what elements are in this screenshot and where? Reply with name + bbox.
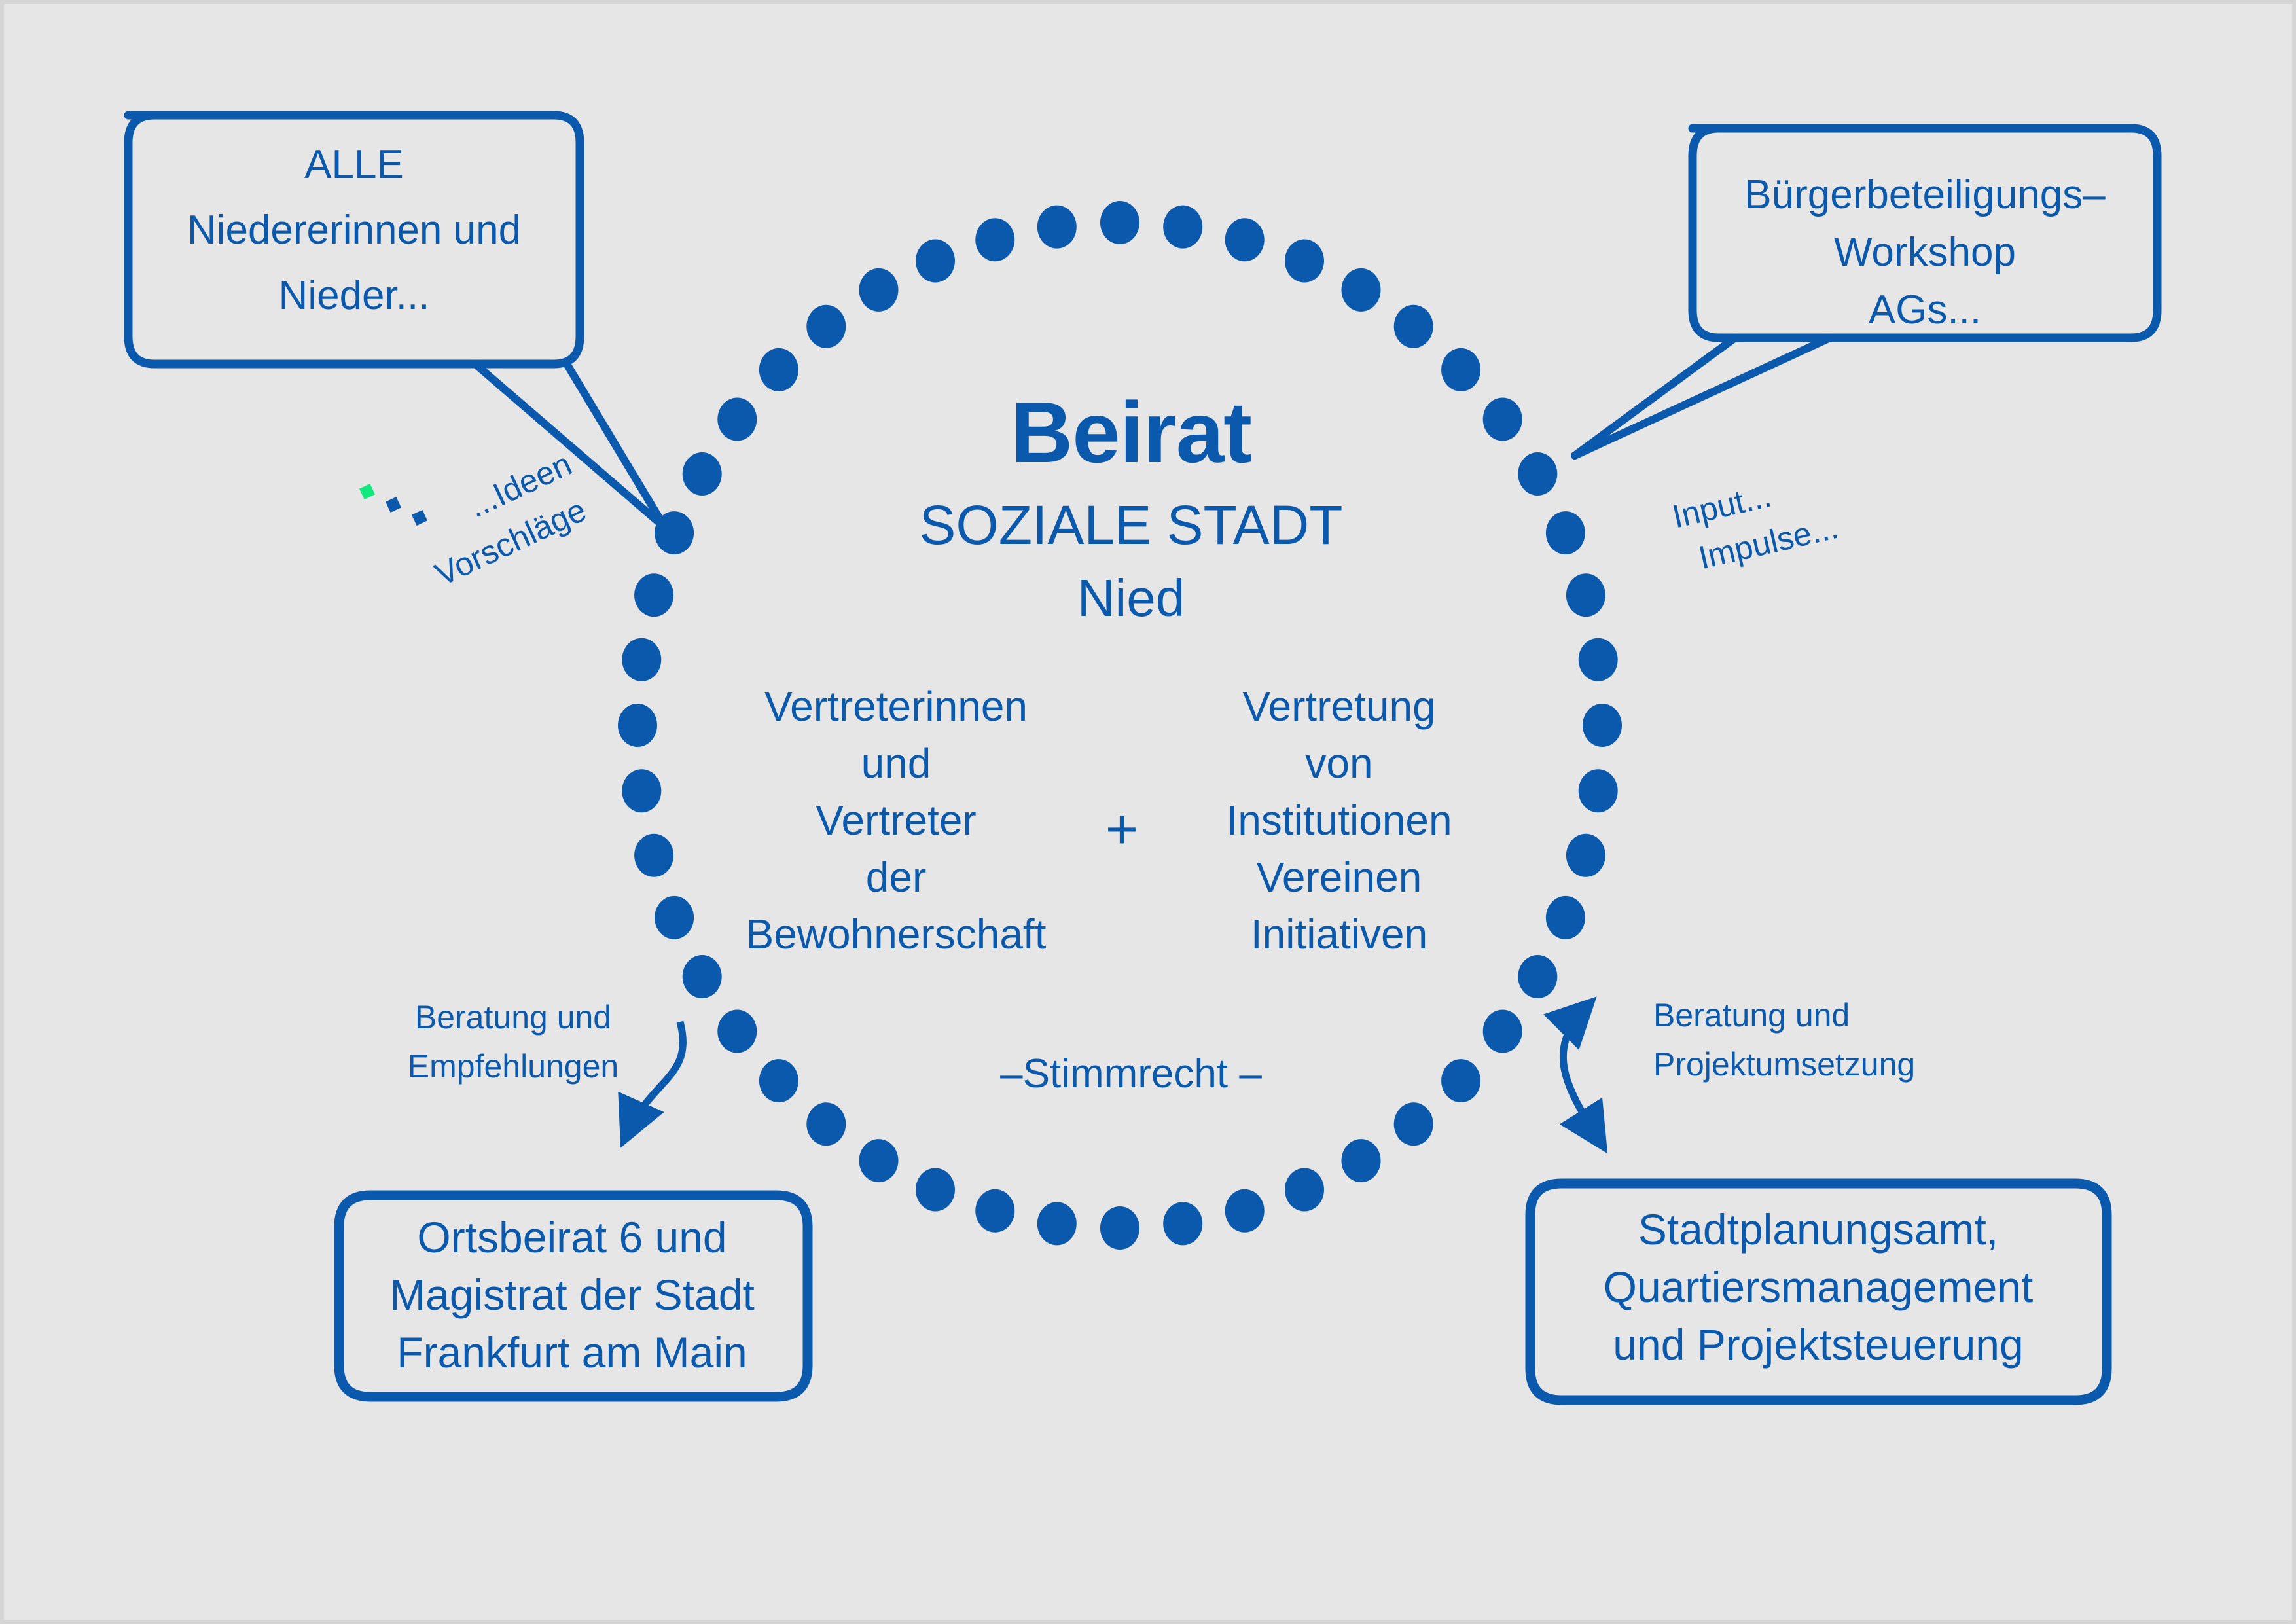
ring-dot xyxy=(916,240,955,283)
center-title: Beirat xyxy=(1011,384,1251,480)
ring-dot xyxy=(1546,896,1585,939)
inner-left-line-2: und xyxy=(861,740,931,787)
ring-dot xyxy=(806,1102,846,1146)
ring-dot xyxy=(622,769,661,812)
ring-dot xyxy=(975,1189,1014,1233)
ring-dot xyxy=(1285,240,1324,283)
inner-right-line-4: Vereinen xyxy=(1257,854,1422,901)
ring-dot xyxy=(1483,398,1522,441)
box-bl-line-1: Ortsbeirat 6 und xyxy=(417,1213,726,1261)
ring-dot xyxy=(759,1059,798,1102)
inner-right-line-5: Initiativen xyxy=(1251,911,1427,958)
box-bl-line-3: Frankfurt am Main xyxy=(397,1328,747,1377)
ring-dot xyxy=(1441,348,1480,391)
ring-dot xyxy=(1163,1202,1202,1245)
ring-dot xyxy=(683,452,722,496)
ring-dot xyxy=(759,348,798,391)
ring-dot xyxy=(1518,452,1557,496)
ring-dot xyxy=(655,896,694,939)
inner-left-line-3: Vertreter xyxy=(816,797,976,844)
bubble-tl-line-2: Niedererinnen und xyxy=(187,208,521,253)
annotation-right-lower-line-1: Beratung und xyxy=(1653,997,1850,1034)
box-br-line-1: Stadtplanungsamt, xyxy=(1638,1205,1998,1254)
arrow-beirat-stadtplanung-bidirectional xyxy=(1563,1005,1601,1143)
ring-dot xyxy=(1225,1189,1265,1233)
inner-right-line-2: von xyxy=(1305,740,1372,787)
arrow-beirat-to-ortsbeirat xyxy=(626,1022,683,1136)
ring-dot xyxy=(1483,1010,1522,1053)
ring-dot xyxy=(1583,704,1622,747)
ring-dot xyxy=(1163,206,1202,249)
bubble-tl-line-3: Nieder... xyxy=(279,273,430,318)
ring-dot xyxy=(634,834,673,877)
ring-dot xyxy=(1566,834,1605,877)
ring-dot xyxy=(1518,955,1557,998)
ring-dot xyxy=(1394,1102,1433,1146)
annotation-left-lower-line-2: Empfehlungen xyxy=(408,1048,619,1085)
bubble-tr-line-3: AGs... xyxy=(1869,287,1981,333)
ring-dot xyxy=(717,1010,757,1053)
ring-dot xyxy=(618,704,657,747)
ring-dot xyxy=(1394,305,1433,348)
bubble-tr-line-2: Workshop xyxy=(1834,230,2016,275)
ring-dot xyxy=(859,1139,899,1182)
bubble-tl-line-1: ALLE xyxy=(304,142,404,187)
ring-dot xyxy=(1100,201,1139,244)
inner-right-line-3: Institutionen xyxy=(1226,797,1452,844)
stimmrecht-note: –Stimmrecht – xyxy=(1000,1051,1262,1096)
diagram-canvas: ALLE Niedererinnen und Nieder... Bürgerb… xyxy=(0,0,2296,1624)
plus-operator: + xyxy=(1105,798,1138,861)
bubble-tr-line-1: Bürgerbeteiligungs– xyxy=(1744,172,2106,217)
ring-dot xyxy=(1285,1168,1324,1212)
ellipsis-dots-left xyxy=(359,484,427,526)
ring-dot xyxy=(1441,1059,1480,1102)
ring-dot xyxy=(1037,206,1077,249)
ring-dot xyxy=(975,218,1014,261)
ring-dot xyxy=(717,398,757,441)
inner-right-line-1: Vertretung xyxy=(1242,683,1435,730)
ring-dot xyxy=(806,305,846,348)
inner-left-line-4: der xyxy=(866,854,927,901)
annotation-right-upper: Input... Impulse... xyxy=(1669,464,1842,580)
box-br-line-2: Quartiersmanagement xyxy=(1604,1263,2034,1311)
ring-dot xyxy=(1342,268,1381,312)
annotation-right-lower-line-2: Projektumsetzung xyxy=(1653,1046,1915,1083)
ring-dot xyxy=(1100,1206,1139,1250)
box-bl-line-2: Magistrat der Stadt xyxy=(389,1271,755,1319)
center-subtitle: SOZIALE STADT xyxy=(919,494,1342,556)
annotation-left-lower-line-1: Beratung und xyxy=(415,999,611,1036)
center-subtitle-2: Nied xyxy=(1077,569,1185,627)
inner-left-line-5: Bewohnerschaft xyxy=(746,911,1047,958)
ring-dot xyxy=(683,955,722,998)
ring-dot xyxy=(859,268,899,312)
box-br-line-3: und Projektsteuerung xyxy=(1613,1320,2023,1369)
ring-dot xyxy=(1225,218,1265,261)
ring-dot xyxy=(1579,638,1618,681)
ring-dot xyxy=(1579,769,1618,812)
ring-dot xyxy=(1566,573,1605,617)
ring-dot xyxy=(1342,1139,1381,1182)
ring-dot xyxy=(916,1168,955,1212)
ring-dot xyxy=(1546,511,1585,554)
ring-dot xyxy=(622,638,661,681)
inner-left-line-1: Vertreterinnen xyxy=(764,683,1028,730)
annotation-left-upper: ...Ideen Vorschläge xyxy=(409,445,598,593)
ring-dot xyxy=(1037,1202,1077,1245)
ring-dot xyxy=(634,573,673,617)
